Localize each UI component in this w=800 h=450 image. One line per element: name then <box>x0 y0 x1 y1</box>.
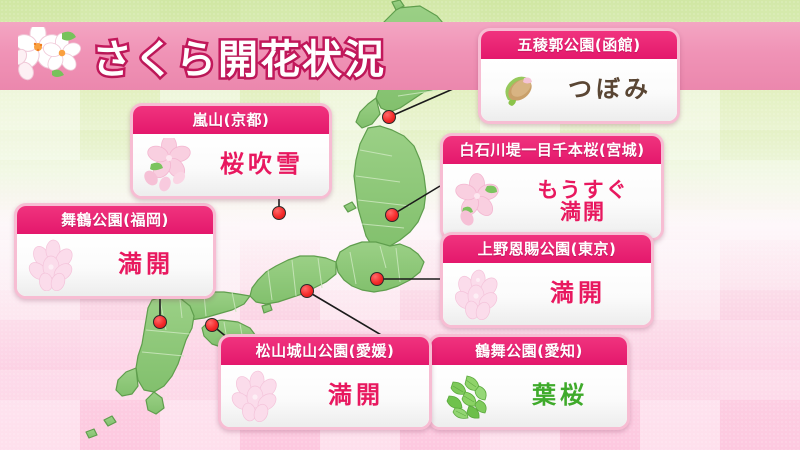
map-marker-tokyo[interactable] <box>370 272 384 286</box>
status-miyagi: もうすぐ 満開 <box>511 179 655 223</box>
status-hakodate: つぼみ <box>549 77 671 102</box>
cherry-blossom-full-icon <box>23 239 85 291</box>
card-fukuoka[interactable]: 舞鶴公園(福岡) <box>14 203 216 299</box>
card-kyoto[interactable]: 嵐山(京都) <box>130 103 332 199</box>
card-title-hakodate: 五稜郭公園(函館) <box>481 31 677 59</box>
card-title-tokyo: 上野恩賜公園(東京) <box>443 235 651 263</box>
card-title-aichi: 鶴舞公園(愛知) <box>431 337 627 365</box>
cherry-blossom-full-icon <box>227 370 289 422</box>
green-leaves-icon <box>437 370 499 422</box>
status-miyagi-line1: もうすぐ <box>511 179 655 201</box>
card-ehime[interactable]: 松山城山公園(愛媛) <box>218 334 432 430</box>
cherry-blossom-full-icon <box>449 268 511 320</box>
map-marker-hakodate[interactable] <box>382 110 396 124</box>
card-title-kyoto: 嵐山(京都) <box>133 106 329 134</box>
card-title-fukuoka: 舞鶴公園(福岡) <box>17 206 213 234</box>
cherry-blossom-icon <box>449 172 511 230</box>
title-group: さくら開花状況 <box>18 24 386 88</box>
map-marker-fukuoka[interactable] <box>153 315 167 329</box>
map-marker-aichi[interactable] <box>300 284 314 298</box>
cherry-blossom-icon <box>18 27 82 85</box>
page-title: さくら開花状況 <box>92 27 386 85</box>
map-marker-ehime[interactable] <box>205 318 219 332</box>
status-tokyo: 満開 <box>511 281 645 306</box>
status-fukuoka: 満開 <box>85 252 207 277</box>
status-ehime: 満開 <box>289 383 423 408</box>
bud-icon <box>487 66 549 114</box>
status-aichi: 葉桜 <box>499 383 621 408</box>
map-marker-miyagi[interactable] <box>385 208 399 222</box>
status-miyagi-line2: 満開 <box>511 201 655 223</box>
card-hakodate[interactable]: 五稜郭公園(函館) つぼみ <box>478 28 680 124</box>
sakura-bloom-status-screen: さくら開花状況 五稜郭公園(函館) つぼみ <box>0 0 800 450</box>
falling-petals-icon <box>139 138 201 192</box>
card-miyagi[interactable]: 白石川堤一目千本桜(宮城) <box>440 133 664 241</box>
map-marker-kyoto[interactable] <box>272 206 286 220</box>
card-title-ehime: 松山城山公園(愛媛) <box>221 337 429 365</box>
card-aichi[interactable]: 鶴舞公園(愛知) <box>428 334 630 430</box>
card-tokyo[interactable]: 上野恩賜公園(東京) <box>440 232 654 328</box>
card-title-miyagi: 白石川堤一目千本桜(宮城) <box>443 136 661 164</box>
status-kyoto: 桜吹雪 <box>201 152 323 177</box>
